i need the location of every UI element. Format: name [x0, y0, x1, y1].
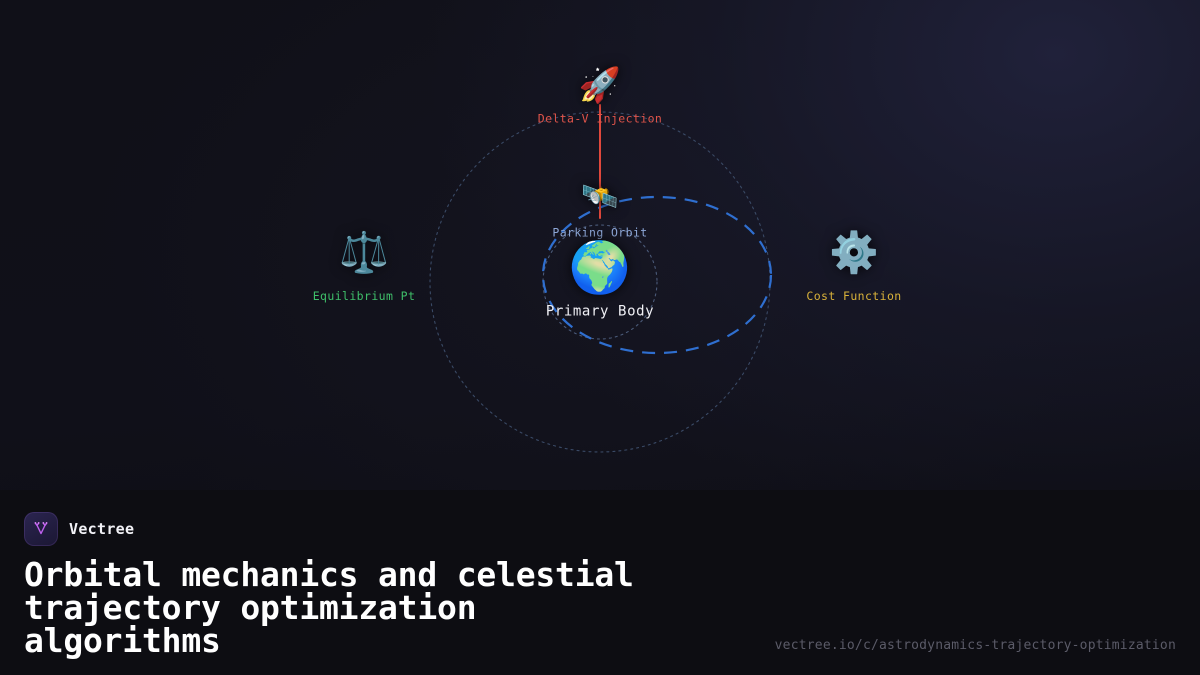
node-label-parking-orbit: Parking Orbit: [552, 226, 647, 240]
node-label-equilibrium-pt: Equilibrium Pt: [313, 289, 416, 303]
rocket-icon: 🚀: [538, 69, 663, 103]
node-parking-orbit[interactable]: 🛰️ Parking Orbit: [552, 183, 647, 240]
brand-name: Vectree: [69, 520, 134, 538]
gear-icon: ⚙️: [806, 233, 901, 273]
balance-scale-icon: ⚖️: [313, 233, 416, 273]
page-title-line-3: algorithms: [24, 624, 744, 657]
node-label-delta-v-injection: Delta-V Injection: [538, 112, 663, 126]
node-label-cost-function: Cost Function: [806, 289, 901, 303]
brand-row: Vectree: [24, 512, 1176, 546]
footer-url[interactable]: vectree.io/c/astrodynamics-trajectory-op…: [775, 638, 1176, 653]
page-title-line-1: Orbital mechanics and celestial: [24, 558, 744, 591]
brand-logo[interactable]: [24, 512, 58, 546]
orbital-diagram: 🚀 Delta-V Injection 🛰️ Parking Orbit 🌍 P…: [0, 0, 1200, 490]
node-equilibrium-pt[interactable]: ⚖️ Equilibrium Pt: [313, 233, 416, 303]
node-delta-v-injection[interactable]: 🚀 Delta-V Injection: [538, 69, 663, 126]
slide-canvas: 🚀 Delta-V Injection 🛰️ Parking Orbit 🌍 P…: [0, 0, 1200, 675]
page-title: Orbital mechanics and celestial trajecto…: [24, 558, 744, 657]
node-cost-function[interactable]: ⚙️ Cost Function: [806, 233, 901, 303]
vectree-v-tree-icon: [31, 519, 51, 539]
node-label-primary-body: Primary Body: [546, 304, 654, 320]
satellite-icon: 🛰️: [552, 183, 647, 213]
node-primary-body[interactable]: 🌍 Primary Body: [546, 243, 654, 320]
footer-bar: Vectree Orbital mechanics and celestial …: [0, 490, 1200, 675]
page-title-line-2: trajectory optimization: [24, 591, 744, 624]
earth-globe-icon: 🌍: [546, 243, 654, 293]
